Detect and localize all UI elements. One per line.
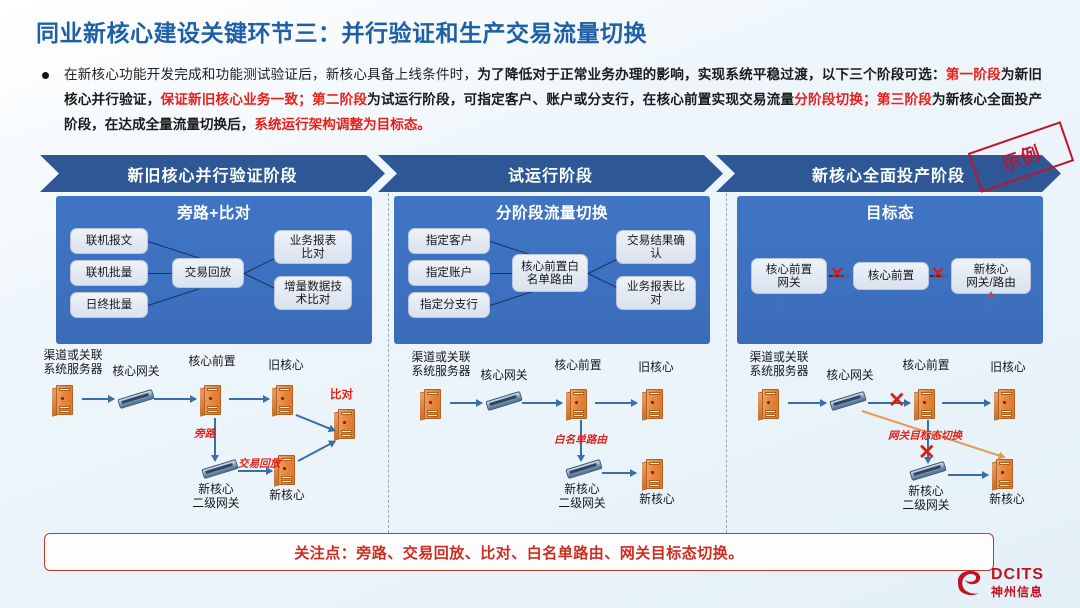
flow3-loop-across xyxy=(777,315,992,316)
d3-arrow-frontend-old xyxy=(942,402,990,404)
body-paragraph-block: 在新核心功能开发完成和功能测试验证后，新核心具备上线条件时，为了降低对于正常业务… xyxy=(42,62,1042,137)
d1-arrow-source-gw xyxy=(82,398,114,400)
d3-label-new-core-gw: 新核心 二级网关 xyxy=(884,484,968,512)
body-seg-staged: 分阶段切换； xyxy=(794,92,876,107)
d1-label-replay: 交易回放 xyxy=(238,456,280,471)
flow-panel-2-title: 分阶段流量切换 xyxy=(394,201,710,223)
d3-label-frontend: 核心前置 xyxy=(890,358,962,372)
d1-label-compare: 比对 xyxy=(330,386,353,402)
flow3-loop-down xyxy=(777,294,778,316)
d3-x-mark-1: ✕ xyxy=(888,390,906,411)
d2-label-frontend: 核心前置 xyxy=(542,358,614,372)
d3-label-source: 渠道或关联 系统服务器 xyxy=(734,350,824,378)
body-seg-target: 系统运行架构调整为目标态。 xyxy=(254,117,431,132)
flow2-output-1: 交易结果确 认 xyxy=(616,230,696,264)
server-diagram-3: 渠道或关联 系统服务器 核心网关 核心前置 旧核心 新核心 二级网关 新核心 网… xyxy=(730,348,1070,530)
flow-panel-2: 分阶段流量切换 指定客户 指定账户 指定分支行 核心前置白 名单路由 交易结果确… xyxy=(394,196,710,344)
d1-server-old-core-icon xyxy=(272,382,298,416)
d2-arrow-frontend-old xyxy=(595,402,637,404)
d1-label-frontend: 核心前置 xyxy=(176,354,248,368)
d1-label-gateway: 核心网关 xyxy=(100,364,172,378)
logo-english-text: DCITS xyxy=(991,566,1044,584)
flow-panel-1-title: 旁路+比对 xyxy=(56,201,372,223)
d3-label-new-core: 新核心 xyxy=(976,492,1038,506)
flow2-center: 核心前置白 名单路由 xyxy=(512,254,588,292)
d3-label-old-core: 旧核心 xyxy=(978,360,1038,374)
flow1-input-1: 联机报文 xyxy=(70,228,148,254)
flow1-conn-1 xyxy=(148,241,200,259)
flow-panel-3: 目标态 核心前置 网关 核心前置 新核心 网关/路由 ✕ ✕ xyxy=(737,196,1043,344)
d2-server-new-core-icon xyxy=(642,456,668,490)
key-points-callout: 关注点：旁路、交易回放、比对、白名单路由、网关目标态切换。 xyxy=(44,533,994,571)
flow2-input-1: 指定客户 xyxy=(408,228,490,254)
d2-arrow-source-gw xyxy=(450,402,482,404)
d2-label-gateway: 核心网关 xyxy=(468,368,540,382)
d3-server-old-core-icon xyxy=(994,386,1020,420)
flow-panel-3-title: 目标态 xyxy=(737,201,1043,223)
d2-arrow-gw-frontend xyxy=(522,402,562,404)
phase-header-2: 试运行阶段 xyxy=(378,155,723,192)
d1-new-core-gateway-icon xyxy=(202,460,240,480)
flow-panel-1: 旁路+比对 联机报文 联机批量 日终批量 交易回放 业务报表 比对 增量数据技 … xyxy=(56,196,372,344)
body-paragraph: 在新核心功能开发完成和功能测试验证后，新核心具备上线条件时，为了降低对于正常业务… xyxy=(64,62,1042,137)
d3-x-mark-2: ✕ xyxy=(918,442,936,463)
company-logo: DCITS 神州信息 xyxy=(955,565,1067,601)
d1-label-new-core: 新核心 xyxy=(256,488,318,502)
d1-label-new-core-gw: 新核心 二级网关 xyxy=(174,482,258,510)
flow3-loop-arrowhead xyxy=(987,291,995,298)
d2-arrow-gw-newcore xyxy=(602,472,636,474)
flow3-node-2: 核心前置 xyxy=(853,262,929,290)
flow1-conn-4 xyxy=(244,256,279,274)
flow1-input-2: 联机批量 xyxy=(70,260,148,286)
flow3-node-3: 新核心 网关/路由 xyxy=(951,258,1031,294)
phase-header-1: 新旧核心并行验证阶段 xyxy=(40,155,385,192)
flow3-node-1: 核心前置 网关 xyxy=(751,258,827,294)
flow2-input-2: 指定账户 xyxy=(408,260,490,286)
body-seg-phase2: 第二阶段 xyxy=(312,92,367,107)
d2-new-core-gateway-icon xyxy=(566,460,604,480)
flow1-input-3: 日终批量 xyxy=(70,292,148,318)
flow1-output-2: 增量数据技 术比对 xyxy=(274,276,352,310)
d3-arrow-gw-newcore xyxy=(948,474,988,476)
d1-server-source-icon xyxy=(52,382,78,416)
d2-label-new-core-gw: 新核心 二级网关 xyxy=(540,482,624,510)
d2-label-new-core: 新核心 xyxy=(626,492,688,506)
d3-server-new-core-icon xyxy=(992,456,1018,490)
logo-chinese-text: 神州信息 xyxy=(991,583,1043,600)
body-seg-phase2-desc: 为试运行阶段，可指定客户、账户或分支行，在核心前置实现交易流量 xyxy=(367,92,794,107)
d3-server-source-icon xyxy=(758,386,784,420)
d1-arrow-new-compare xyxy=(298,440,336,461)
flow2-output-2: 业务报表比 对 xyxy=(616,276,696,310)
flow1-conn-3 xyxy=(148,288,200,306)
d2-gateway-switch-icon xyxy=(486,392,524,412)
bullet-point-icon xyxy=(42,72,49,79)
d2-server-frontend-icon xyxy=(566,386,592,420)
body-seg-phase1: 第一阶段 xyxy=(946,67,1001,82)
server-diagram-2: 渠道或关联 系统服务器 核心网关 核心前置 旧核心 新核心 二级网关 新核心 白… xyxy=(392,348,722,530)
body-seg-guarantee: 保证新旧核心业务一致； xyxy=(160,92,311,107)
body-seg-emphasis: 为了降低对于正常业务办理的影响，实现系统平稳过渡，以下三个阶段可选： xyxy=(477,67,945,82)
example-stamp-label: 示例 xyxy=(998,138,1045,177)
flow3-x-2: ✕ xyxy=(931,265,945,282)
d2-server-old-core-icon xyxy=(642,386,668,420)
flow2-input-3: 指定分支行 xyxy=(408,292,490,318)
flow1-center: 交易回放 xyxy=(172,258,244,288)
body-seg-intro: 在新核心功能开发完成和功能测试验证后，新核心具备上线条件时， xyxy=(64,67,477,82)
flow1-output-1: 业务报表 比对 xyxy=(274,230,352,264)
d1-arrow-old-compare xyxy=(296,414,336,431)
d1-label-bypass: 旁路 xyxy=(194,426,215,441)
body-seg-phase3: 第三阶段 xyxy=(877,92,932,107)
dcits-mark-icon xyxy=(955,567,985,597)
d1-arrow-frontend-old xyxy=(229,398,269,400)
d1-server-compare-icon xyxy=(334,406,360,440)
panel-divider-1 xyxy=(388,193,389,533)
d1-label-old-core: 旧核心 xyxy=(256,358,316,372)
d3-label-gateway: 核心网关 xyxy=(814,368,886,382)
server-diagram-1: 渠道或关联 系统服务器 核心网关 核心前置 旧核心 比对 新核心 二级网关 新核… xyxy=(24,348,384,530)
flow3-x-1: ✕ xyxy=(830,265,844,282)
d2-server-source-icon xyxy=(420,386,446,420)
page-title: 同业新核心建设关键环节三：并行验证和生产交易流量切换 xyxy=(36,14,647,48)
d3-arrow-source-gw xyxy=(788,402,826,404)
d2-label-whitelist: 白名单路由 xyxy=(554,432,607,447)
d3-gateway-switch-icon xyxy=(830,392,868,412)
d1-server-frontend-icon xyxy=(200,382,226,416)
panel-divider-2 xyxy=(726,193,727,533)
d1-gateway-switch-icon xyxy=(118,390,156,410)
key-points-text: 关注点：旁路、交易回放、比对、白名单路由、网关目标态切换。 xyxy=(294,542,744,563)
d1-arrow-gw-frontend xyxy=(154,398,196,400)
flow3-loop-up xyxy=(991,296,992,316)
d3-server-frontend-icon xyxy=(914,386,940,420)
d2-label-old-core: 旧核心 xyxy=(626,360,686,374)
d3-new-core-gateway-icon xyxy=(910,462,948,482)
